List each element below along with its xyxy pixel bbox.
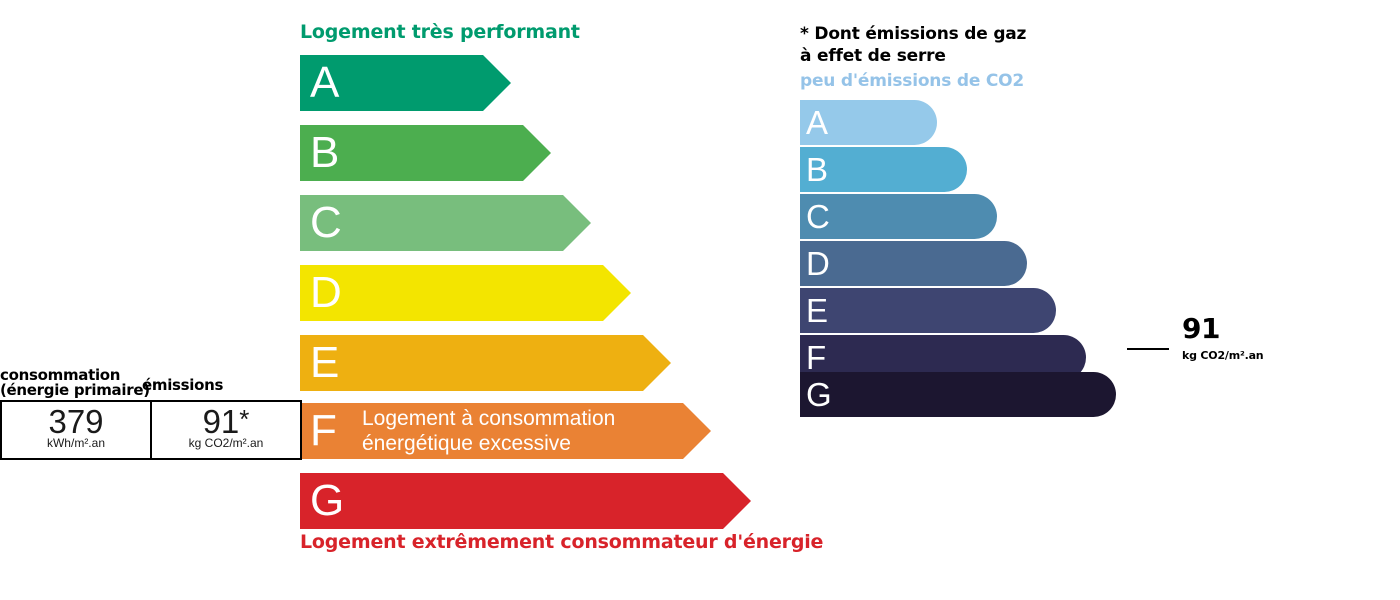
dpe-letter-e: E [310,335,360,391]
consumption-value: 379 [48,404,103,440]
emissions-value-number: 91 [203,403,240,440]
ges-callout-unit: kg CO2/m².an [1182,350,1263,362]
consumption-value-number: 379 [48,403,103,440]
ges-scale: * Dont émissions de gaz à effet de serre… [790,0,1400,600]
emissions-value-box: 91* kg CO2/m².an [150,400,302,460]
dpe-letter-b: B [310,125,360,181]
ges-header-light-label: peu d'émissions de CO2 [800,71,1024,91]
value-boxes: consommation (énergie primaire) émission… [0,368,302,463]
ges-callout-leader-line [1127,348,1169,350]
dpe-letter-d: D [310,265,360,321]
dpe-letter-a: A [310,55,360,111]
dpe-letter-g: G [310,473,360,529]
emissions-caption: émissions [142,378,223,393]
ges-letter-g: G [806,372,846,417]
emissions-value: 91* [203,404,250,440]
ges-callout-value: 91 [1182,314,1220,344]
dpe-bar-g [300,473,751,529]
dpe-bottom-label: Logement extrêmement consommateur d'éner… [300,531,823,553]
ges-letter-a: A [806,100,846,145]
consumption-caption: consommation (énergie primaire) [0,368,150,398]
ges-letter-c: C [806,194,846,239]
consumption-value-box: 379 kWh/m².an [0,400,152,460]
ges-letter-d: D [806,241,846,286]
dpe-top-label: Logement très performant [300,21,580,43]
emissions-value-star: * [239,404,249,434]
dpe-highlight-text: Logement à consommation énergétique exce… [362,406,615,456]
ges-letter-e: E [806,288,846,333]
ges-bar-g [800,372,1116,417]
dpe-letter-c: C [310,195,360,251]
ges-header-note: * Dont émissions de gaz à effet de serre [800,23,1026,67]
dpe-letter-f: F [310,403,360,459]
ges-letter-b: B [806,147,846,192]
dpe-energy-scale: Logement très performant ABCDEFLogement … [0,0,800,600]
